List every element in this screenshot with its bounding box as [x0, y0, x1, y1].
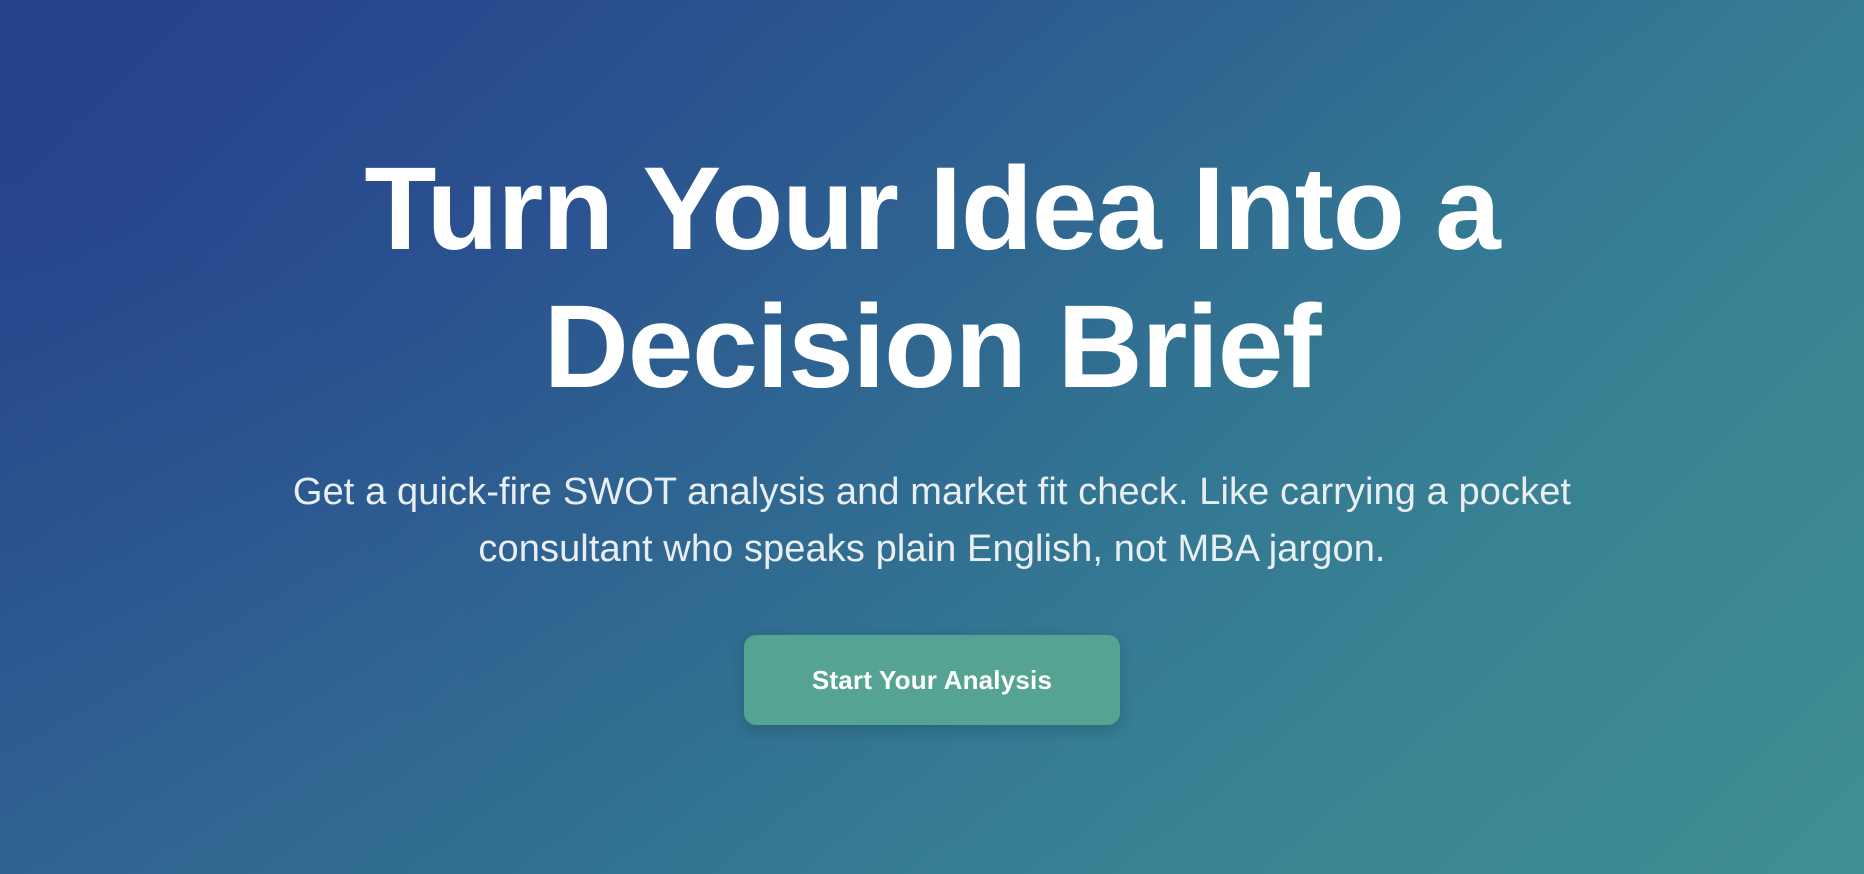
hero-section: Turn Your Idea Into a Decision Brief Get…: [0, 0, 1864, 874]
page-title-line-2: Decision Brief: [544, 281, 1321, 413]
hero-subtitle-line-2: consultant who speaks plain English, not…: [478, 528, 1385, 570]
page-title: Turn Your Idea Into a Decision Brief: [342, 0, 1522, 416]
page-title-line-1: Turn Your Idea Into a: [364, 143, 1499, 275]
hero-subtitle-line-1: Get a quick-fire SWOT analysis and marke…: [293, 471, 1571, 513]
cta-container: Start Your Analysis: [0, 635, 1864, 725]
hero-subtitle: Get a quick-fire SWOT analysis and marke…: [267, 464, 1597, 578]
hero-content: Turn Your Idea Into a Decision Brief Get…: [0, 0, 1864, 725]
start-analysis-button[interactable]: Start Your Analysis: [744, 635, 1120, 725]
